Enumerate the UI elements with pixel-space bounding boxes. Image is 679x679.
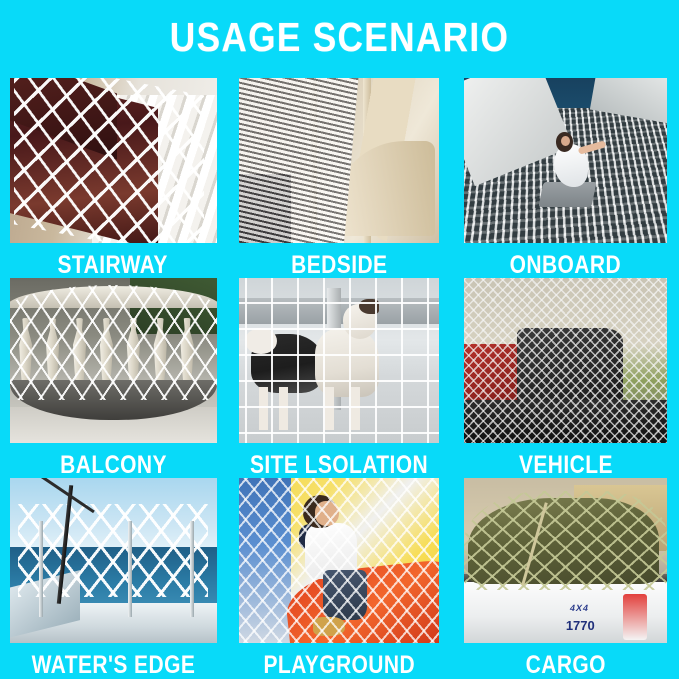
scenario-card-bedside[interactable]: BEDSIDE (226, 78, 452, 278)
playground-net-mesh (239, 478, 439, 643)
isolation-net-mesh (239, 278, 439, 443)
scenario-photo-onboard (464, 78, 667, 243)
scenario-caption-balcony: BALCONY (60, 452, 167, 478)
scenario-photo-cargo: 4X4 1770 (464, 478, 667, 643)
vehicle-net-mesh (464, 278, 667, 443)
scenario-photo-stairway (10, 78, 217, 243)
scenario-caption-site-isolation: SITE LSOLATION (250, 452, 428, 478)
truck-model-number: 1770 (566, 618, 595, 633)
scenario-photo-site-isolation (239, 278, 439, 443)
scenario-photo-waters-edge (10, 478, 217, 643)
scenario-caption-stairway: STAIRWAY (58, 252, 168, 278)
scenario-photo-vehicle (464, 278, 667, 443)
scenario-card-onboard[interactable]: ONBOARD (453, 78, 679, 278)
scenario-caption-waters-edge: WATER'S EDGE (31, 652, 195, 678)
scenario-caption-vehicle: VEHICLE (519, 452, 613, 478)
stanchion-post (128, 521, 133, 617)
safety-net-mesh (14, 78, 204, 243)
scenario-card-balcony[interactable]: BALCONY (0, 278, 226, 478)
scenario-caption-bedside: BEDSIDE (291, 252, 387, 278)
scenario-photo-playground (239, 478, 439, 643)
scenario-grid: STAIRWAY BEDSIDE (0, 78, 679, 678)
scenario-card-playground[interactable]: PLAYGROUND (226, 478, 452, 678)
safety-net-mesh (10, 285, 217, 401)
scenario-photo-balcony (10, 278, 217, 443)
cargo-net-mesh (464, 491, 667, 590)
stanchion-post (190, 521, 195, 617)
scenario-card-cargo[interactable]: 4X4 1770 CARGO (453, 478, 679, 678)
safety-net-mesh (239, 78, 359, 243)
safety-net-mesh (18, 504, 208, 596)
truck-badge-4x4: 4X4 (569, 603, 590, 613)
scenario-caption-cargo: CARGO (526, 652, 606, 678)
scenario-caption-playground: PLAYGROUND (264, 652, 416, 678)
scenario-card-vehicle[interactable]: VEHICLE (453, 278, 679, 478)
stanchion-post (39, 521, 44, 617)
scenario-card-site-isolation[interactable]: SITE LSOLATION (226, 278, 452, 478)
scenario-caption-onboard: ONBOARD (510, 252, 621, 278)
usage-scenario-poster: USAGE SCENARIO STAIRWAY (0, 0, 679, 679)
scenario-card-waters-edge[interactable]: WATER'S EDGE (0, 478, 226, 678)
tail-light (623, 594, 647, 640)
page-title: USAGE SCENARIO (48, 14, 632, 60)
scenario-photo-bedside (239, 78, 439, 243)
scenario-card-stairway[interactable]: STAIRWAY (0, 78, 226, 278)
